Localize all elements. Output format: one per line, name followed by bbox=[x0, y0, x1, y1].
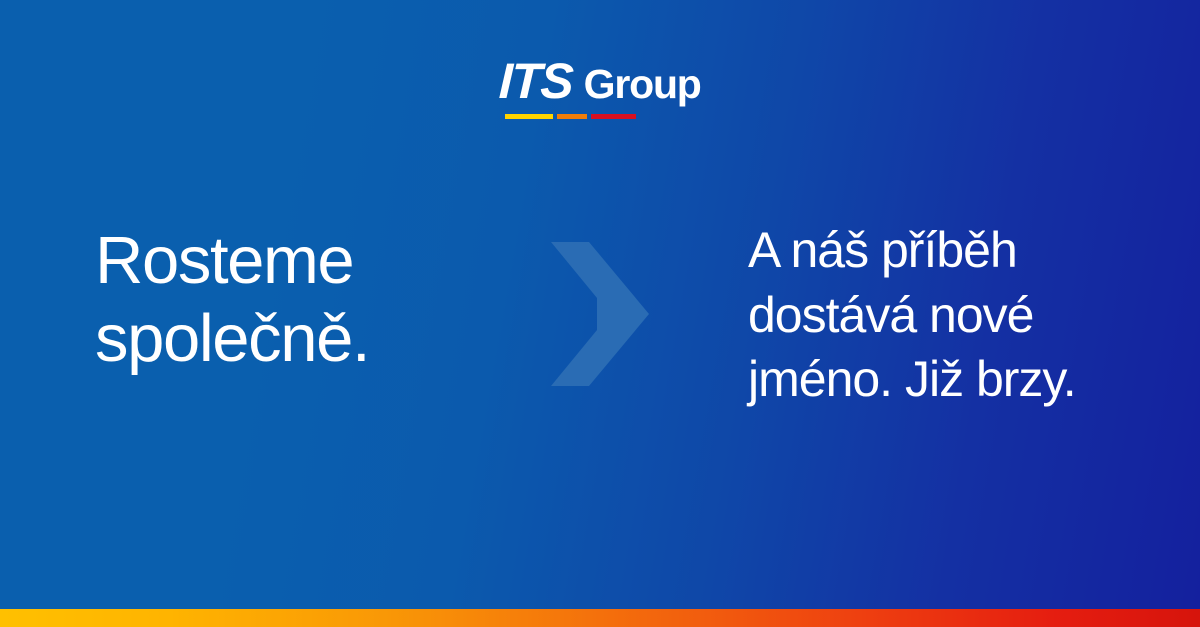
headline-line-1: Rosteme bbox=[95, 222, 535, 300]
logo-lockup: ITS Group bbox=[499, 56, 700, 106]
headline: Rosteme společně. bbox=[95, 222, 535, 379]
headline-line-2: společně. bbox=[95, 300, 535, 378]
subline-line-3: jméno. Již brzy. bbox=[748, 347, 1148, 412]
yellow-bar-icon bbox=[505, 114, 553, 119]
subline-line-1: A náš příběh bbox=[748, 218, 1148, 283]
subline: A náš příběh dostává nové jméno. Již brz… bbox=[748, 218, 1148, 412]
red-bar-icon bbox=[591, 114, 636, 119]
promo-banner: ITS Group Rosteme společně. A náš příběh… bbox=[0, 0, 1200, 627]
logo-group-text: Group bbox=[584, 64, 701, 105]
footer-accent-stripe bbox=[0, 609, 1200, 627]
orange-bar-icon bbox=[557, 114, 587, 119]
chevron-right-icon bbox=[545, 240, 655, 388]
subline-line-2: dostává nové bbox=[748, 283, 1148, 348]
logo-accent-bars bbox=[505, 114, 636, 119]
logo-its-text: ITS bbox=[498, 56, 573, 106]
its-group-logo: ITS Group bbox=[0, 56, 1200, 106]
